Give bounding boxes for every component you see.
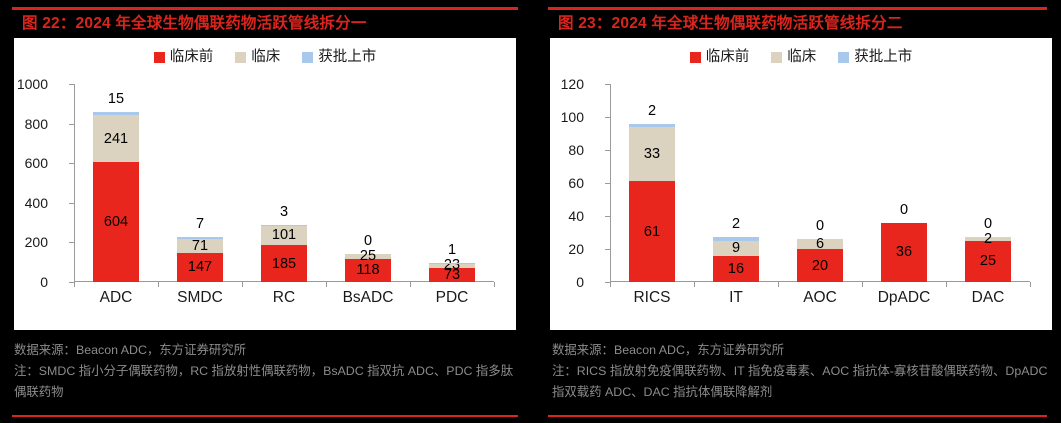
- x-axis-tick: [494, 282, 495, 287]
- y-axis-tick: [69, 242, 74, 243]
- plot-area-22: 60424115ADC147717SMDC1851013RC118250BsAD…: [14, 76, 516, 330]
- x-axis-label-adc: ADC: [100, 289, 133, 307]
- legend-label-clinical: 临床: [787, 50, 816, 65]
- bar-value-label: 118: [345, 262, 391, 278]
- chart-card-23: 临床前 临床 获批上市 61332RICS1692IT2060AOC360DpA…: [550, 38, 1052, 330]
- bar-segment-临床[interactable]: 2: [965, 237, 1011, 240]
- stacked-bar[interactable]: 2060: [797, 239, 843, 282]
- y-axis-tick-label: 80: [524, 142, 584, 158]
- bar-group-smdc[interactable]: 147717SMDC: [158, 84, 242, 282]
- bar-group-it[interactable]: 1692IT: [694, 84, 778, 282]
- legend-swatch-approved-icon: [302, 52, 313, 63]
- bar-total-top-label: 0: [900, 202, 908, 218]
- bar-value-label: 25: [965, 253, 1011, 269]
- bar-segment-临床[interactable]: 25: [345, 254, 391, 259]
- chart-legend-23: 临床前 临床 获批上市: [550, 50, 1052, 65]
- bar-value-label: 61: [629, 224, 675, 240]
- y-axis-tick: [605, 84, 610, 85]
- bar-segment-获批上市[interactable]: [261, 225, 307, 226]
- bar-group-aoc[interactable]: 2060AOC: [778, 84, 862, 282]
- x-axis-label-dac: DAC: [972, 289, 1005, 307]
- bar-total-top-label: 2: [732, 216, 740, 232]
- y-axis-tick-label: 200: [0, 234, 48, 250]
- x-axis-tick: [610, 282, 611, 287]
- stacked-bar[interactable]: 73231: [429, 263, 475, 282]
- bar-group-dpadc[interactable]: 360DpADC: [862, 84, 946, 282]
- y-axis-tick-label: 120: [524, 76, 584, 92]
- bar-group-adc[interactable]: 60424115ADC: [74, 84, 158, 282]
- legend-swatch-approved-icon: [838, 52, 849, 63]
- bar-segment-临床前[interactable]: 16: [713, 256, 759, 282]
- bar-group-dac[interactable]: 2520DAC: [946, 84, 1030, 282]
- stacked-bar[interactable]: 61332: [629, 124, 675, 282]
- bar-value-label: 2: [965, 231, 1011, 247]
- x-axis-label-bsadc: BsADC: [343, 289, 394, 307]
- bar-value-label: 23: [429, 257, 475, 273]
- footnote-source-22: 数据来源：Beacon ADC，东方证券研究所: [14, 340, 519, 361]
- legend-item-preclinical[interactable]: 临床前: [154, 50, 214, 65]
- bar-total-top-label: 0: [364, 233, 372, 249]
- x-axis-label-pdc: PDC: [436, 289, 469, 307]
- bar-value-label: 71: [177, 238, 223, 254]
- chart-legend-22: 临床前 临床 获批上市: [14, 50, 516, 65]
- y-axis-tick-label: 800: [0, 116, 48, 132]
- bar-segment-临床[interactable]: 241: [93, 115, 139, 163]
- x-axis-label-it: IT: [729, 289, 743, 307]
- bar-group-rics[interactable]: 61332RICS: [610, 84, 694, 282]
- bar-value-label: 25: [345, 248, 391, 264]
- footnotes-23: 数据来源：Beacon ADC，东方证券研究所 注：RICS 指放射免疫偶联药物…: [552, 340, 1052, 403]
- y-axis-tick-label: 1000: [0, 76, 48, 92]
- y-axis-tick-label: 400: [0, 195, 48, 211]
- bar-value-label: 185: [261, 256, 307, 272]
- x-axis-tick: [158, 282, 159, 287]
- footnote-note-23: 注：RICS 指放射免疫偶联药物、IT 指免疫毒素、AOC 指抗体-寡核苷酸偶联…: [552, 361, 1052, 403]
- bar-segment-临床前[interactable]: 147: [177, 253, 223, 282]
- legend-label-preclinical: 临床前: [706, 50, 750, 65]
- legend-item-approved[interactable]: 获批上市: [838, 50, 912, 65]
- top-divider-right: [548, 7, 1047, 10]
- bar-group-bsadc[interactable]: 118250BsADC: [326, 84, 410, 282]
- bar-value-label: 36: [881, 244, 927, 260]
- y-axis-tick: [69, 203, 74, 204]
- bar-group-pdc[interactable]: 73231PDC: [410, 84, 494, 282]
- footnotes-22: 数据来源：Beacon ADC，东方证券研究所 注：SMDC 指小分子偶联药物，…: [14, 340, 519, 403]
- figure-pair-page: 图 22：2024 年全球生物偶联药物活跃管线拆分一 临床前 临床 获批上市: [0, 0, 1061, 423]
- bar-total-top-label: 15: [108, 91, 124, 107]
- y-axis-tick: [605, 117, 610, 118]
- figure-title-23: 图 23：2024 年全球生物偶联药物活跃管线拆分二: [558, 12, 1051, 36]
- bar-value-label: 604: [93, 214, 139, 230]
- y-axis-tick-label: 100: [524, 109, 584, 125]
- bar-segment-临床[interactable]: 33: [629, 127, 675, 181]
- bar-segment-获批上市[interactable]: [629, 124, 675, 127]
- bar-segment-获批上市[interactable]: [713, 237, 759, 240]
- legend-item-clinical[interactable]: 临床: [771, 50, 816, 65]
- bar-segment-获批上市[interactable]: [93, 112, 139, 115]
- bar-series-23: 61332RICS1692IT2060AOC360DpADC2520DAC: [610, 84, 1030, 282]
- bar-value-label: 16: [713, 261, 759, 277]
- y-axis-tick: [605, 150, 610, 151]
- bar-value-label: 6: [797, 236, 843, 252]
- y-axis-tick: [605, 216, 610, 217]
- stacked-bar[interactable]: 360: [881, 223, 927, 282]
- bar-total-top-label: 2: [648, 103, 656, 119]
- bar-total-top-label: 1: [448, 242, 456, 258]
- x-axis-label-smdc: SMDC: [177, 289, 223, 307]
- x-axis-tick: [74, 282, 75, 287]
- bar-value-label: 33: [629, 146, 675, 162]
- y-axis-tick: [69, 84, 74, 85]
- legend-label-approved: 获批上市: [854, 50, 912, 65]
- stacked-bar[interactable]: 60424115: [93, 112, 139, 282]
- legend-item-preclinical[interactable]: 临床前: [690, 50, 750, 65]
- bar-value-label: 101: [261, 227, 307, 243]
- bar-segment-临床[interactable]: 9: [713, 241, 759, 256]
- chart-card-22: 临床前 临床 获批上市 60424115ADC147717SMDC1851013…: [14, 38, 516, 330]
- x-axis-label-dpadc: DpADC: [878, 289, 931, 307]
- y-axis-tick-label: 20: [524, 241, 584, 257]
- legend-swatch-clinical-icon: [771, 52, 782, 63]
- legend-item-clinical[interactable]: 临床: [235, 50, 280, 65]
- bar-segment-获批上市[interactable]: [177, 237, 223, 238]
- x-axis-tick: [862, 282, 863, 287]
- stacked-bar[interactable]: 118250: [345, 254, 391, 282]
- x-axis-tick: [326, 282, 327, 287]
- y-axis-tick: [605, 183, 610, 184]
- bar-segment-临床[interactable]: 6: [797, 239, 843, 249]
- bar-segment-临床前[interactable]: 185: [261, 245, 307, 282]
- y-axis-tick-label: 0: [0, 274, 48, 290]
- figure-title-22: 图 22：2024 年全球生物偶联药物活跃管线拆分一: [22, 12, 520, 36]
- bottom-divider-right: [548, 415, 1047, 417]
- x-axis-tick: [242, 282, 243, 287]
- y-axis-tick-label: 0: [524, 274, 584, 290]
- bar-total-top-label: 7: [196, 216, 204, 232]
- bar-value-label: 241: [93, 131, 139, 147]
- y-axis-tick-label: 40: [524, 208, 584, 224]
- bar-value-label: 147: [177, 259, 223, 275]
- figure-panel-22: 图 22：2024 年全球生物偶联药物活跃管线拆分一 临床前 临床 获批上市: [0, 0, 530, 423]
- bar-segment-临床[interactable]: 23: [429, 263, 475, 268]
- bar-segment-临床前[interactable]: 20: [797, 249, 843, 282]
- x-axis-tick: [946, 282, 947, 287]
- bar-value-label: 20: [797, 258, 843, 274]
- bar-series-22: 60424115ADC147717SMDC1851013RC118250BsAD…: [74, 84, 494, 282]
- y-axis-tick: [605, 249, 610, 250]
- bar-total-top-label: 3: [280, 204, 288, 220]
- x-axis-label-rc: RC: [273, 289, 295, 307]
- figure-panel-23: 图 23：2024 年全球生物偶联药物活跃管线拆分二 临床前 临床 获批上市: [530, 0, 1061, 423]
- bar-segment-临床前[interactable]: 604: [93, 162, 139, 282]
- stacked-bar[interactable]: 2520: [965, 237, 1011, 282]
- y-axis-tick-label: 600: [0, 155, 48, 171]
- legend-swatch-preclinical-icon: [690, 52, 701, 63]
- legend-label-preclinical: 临床前: [170, 50, 214, 65]
- bar-segment-临床[interactable]: 71: [177, 239, 223, 253]
- axes-22: 60424115ADC147717SMDC1851013RC118250BsAD…: [74, 84, 494, 282]
- footnote-note-22: 注：SMDC 指小分子偶联药物，RC 指放射性偶联药物，BsADC 指双抗 AD…: [14, 361, 519, 403]
- stacked-bar[interactable]: 147717: [177, 237, 223, 282]
- legend-swatch-clinical-icon: [235, 52, 246, 63]
- bar-segment-临床前[interactable]: 61: [629, 181, 675, 282]
- stacked-bar[interactable]: 1851013: [261, 225, 307, 282]
- bottom-divider-left: [12, 415, 518, 417]
- bar-segment-临床前[interactable]: 36: [881, 223, 927, 282]
- bar-segment-临床[interactable]: 101: [261, 225, 307, 245]
- x-axis-tick: [694, 282, 695, 287]
- legend-swatch-preclinical-icon: [154, 52, 165, 63]
- bar-total-top-label: 0: [984, 216, 992, 232]
- y-axis-tick: [69, 124, 74, 125]
- x-axis-tick: [410, 282, 411, 287]
- plot-area-23: 61332RICS1692IT2060AOC360DpADC2520DAC 02…: [550, 76, 1052, 330]
- legend-item-approved[interactable]: 获批上市: [302, 50, 376, 65]
- y-axis-tick: [69, 163, 74, 164]
- axes-23: 61332RICS1692IT2060AOC360DpADC2520DAC 02…: [610, 84, 1030, 282]
- x-axis-tick: [778, 282, 779, 287]
- bar-total-top-label: 0: [816, 218, 824, 234]
- y-axis-tick-label: 60: [524, 175, 584, 191]
- footnote-source-23: 数据来源：Beacon ADC，东方证券研究所: [552, 340, 1052, 361]
- x-axis-label-aoc: AOC: [803, 289, 837, 307]
- stacked-bar[interactable]: 1692: [713, 237, 759, 282]
- bar-value-label: 9: [713, 240, 759, 256]
- bar-group-rc[interactable]: 1851013RC: [242, 84, 326, 282]
- top-divider-left: [12, 7, 518, 10]
- legend-label-clinical: 临床: [251, 50, 280, 65]
- x-axis-tick: [1030, 282, 1031, 287]
- x-axis-label-rics: RICS: [633, 289, 670, 307]
- legend-label-approved: 获批上市: [318, 50, 376, 65]
